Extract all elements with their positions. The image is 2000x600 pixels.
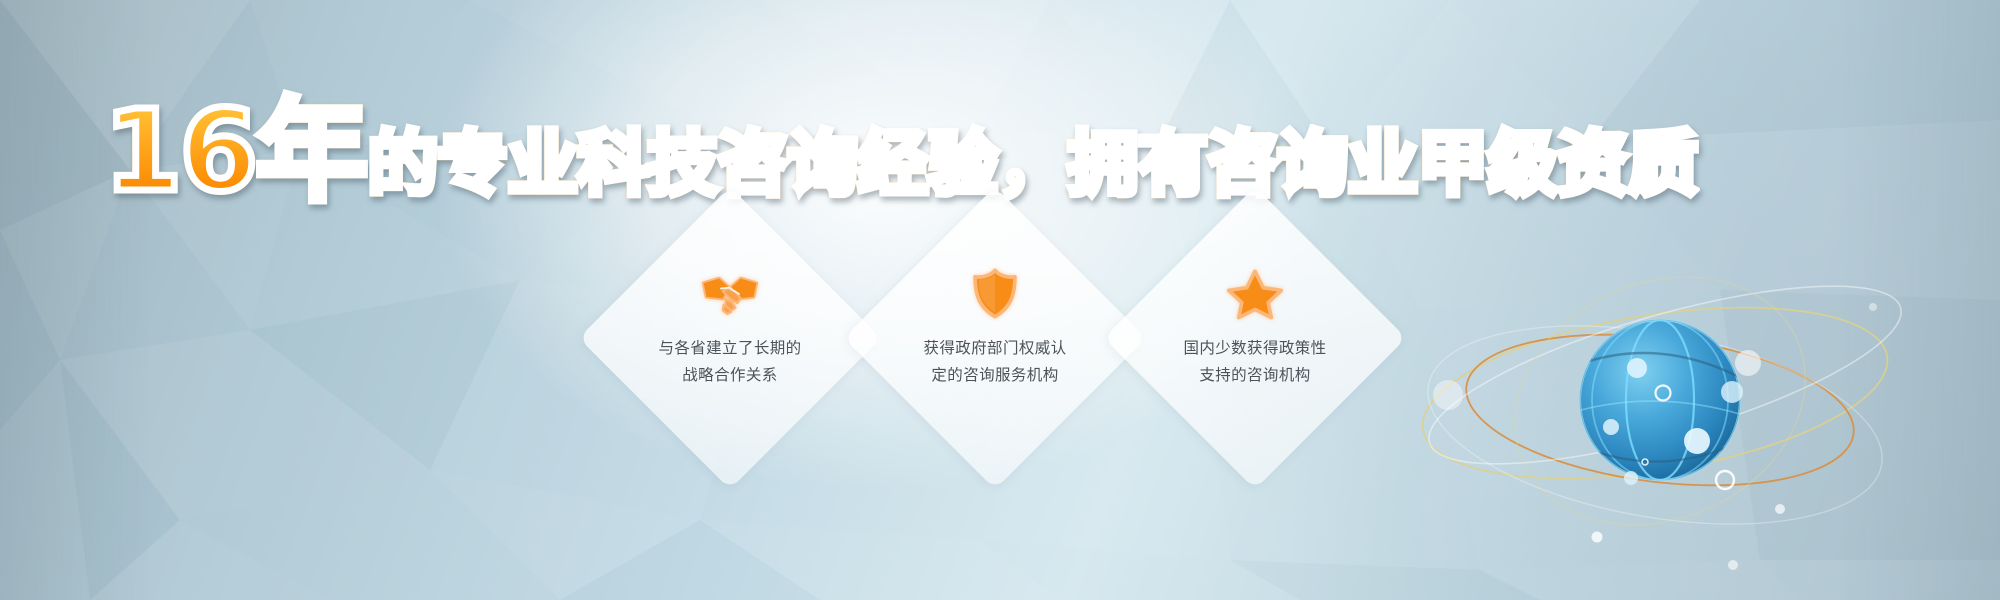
promo-banner: 16年 的专业科技咨询经验，拥有咨询业甲级资质 与各省建立 — [0, 0, 2000, 600]
feature-card[interactable]: 获得政府部门权威认 定的咨询服务机构 — [888, 231, 1102, 445]
feature-line2: 定的咨询服务机构 — [923, 362, 1066, 389]
feature-line1: 国内少数获得政策性 — [1183, 335, 1326, 362]
headline-rest: 的专业科技咨询经验，拥有咨询业甲级资质 — [368, 129, 1698, 199]
feature-line1: 获得政府部门权威认 — [923, 335, 1066, 362]
headline-highlight: 16年 — [104, 96, 366, 208]
feature-line1: 与各省建立了长期的 — [658, 335, 801, 362]
shield-icon — [966, 267, 1024, 321]
feature-line2: 战略合作关系 — [658, 362, 801, 389]
feature-line2: 支持的咨询机构 — [1183, 362, 1326, 389]
banner-headline: 16年 的专业科技咨询经验，拥有咨询业甲级资质 — [104, 96, 1698, 208]
globe-network-graphic — [1405, 215, 1925, 575]
handshake-icon — [701, 267, 759, 321]
feature-card[interactable]: 与各省建立了长期的 战略合作关系 — [623, 231, 837, 445]
feature-card[interactable]: 国内少数获得政策性 支持的咨询机构 — [1148, 231, 1362, 445]
star-icon — [1226, 267, 1284, 321]
